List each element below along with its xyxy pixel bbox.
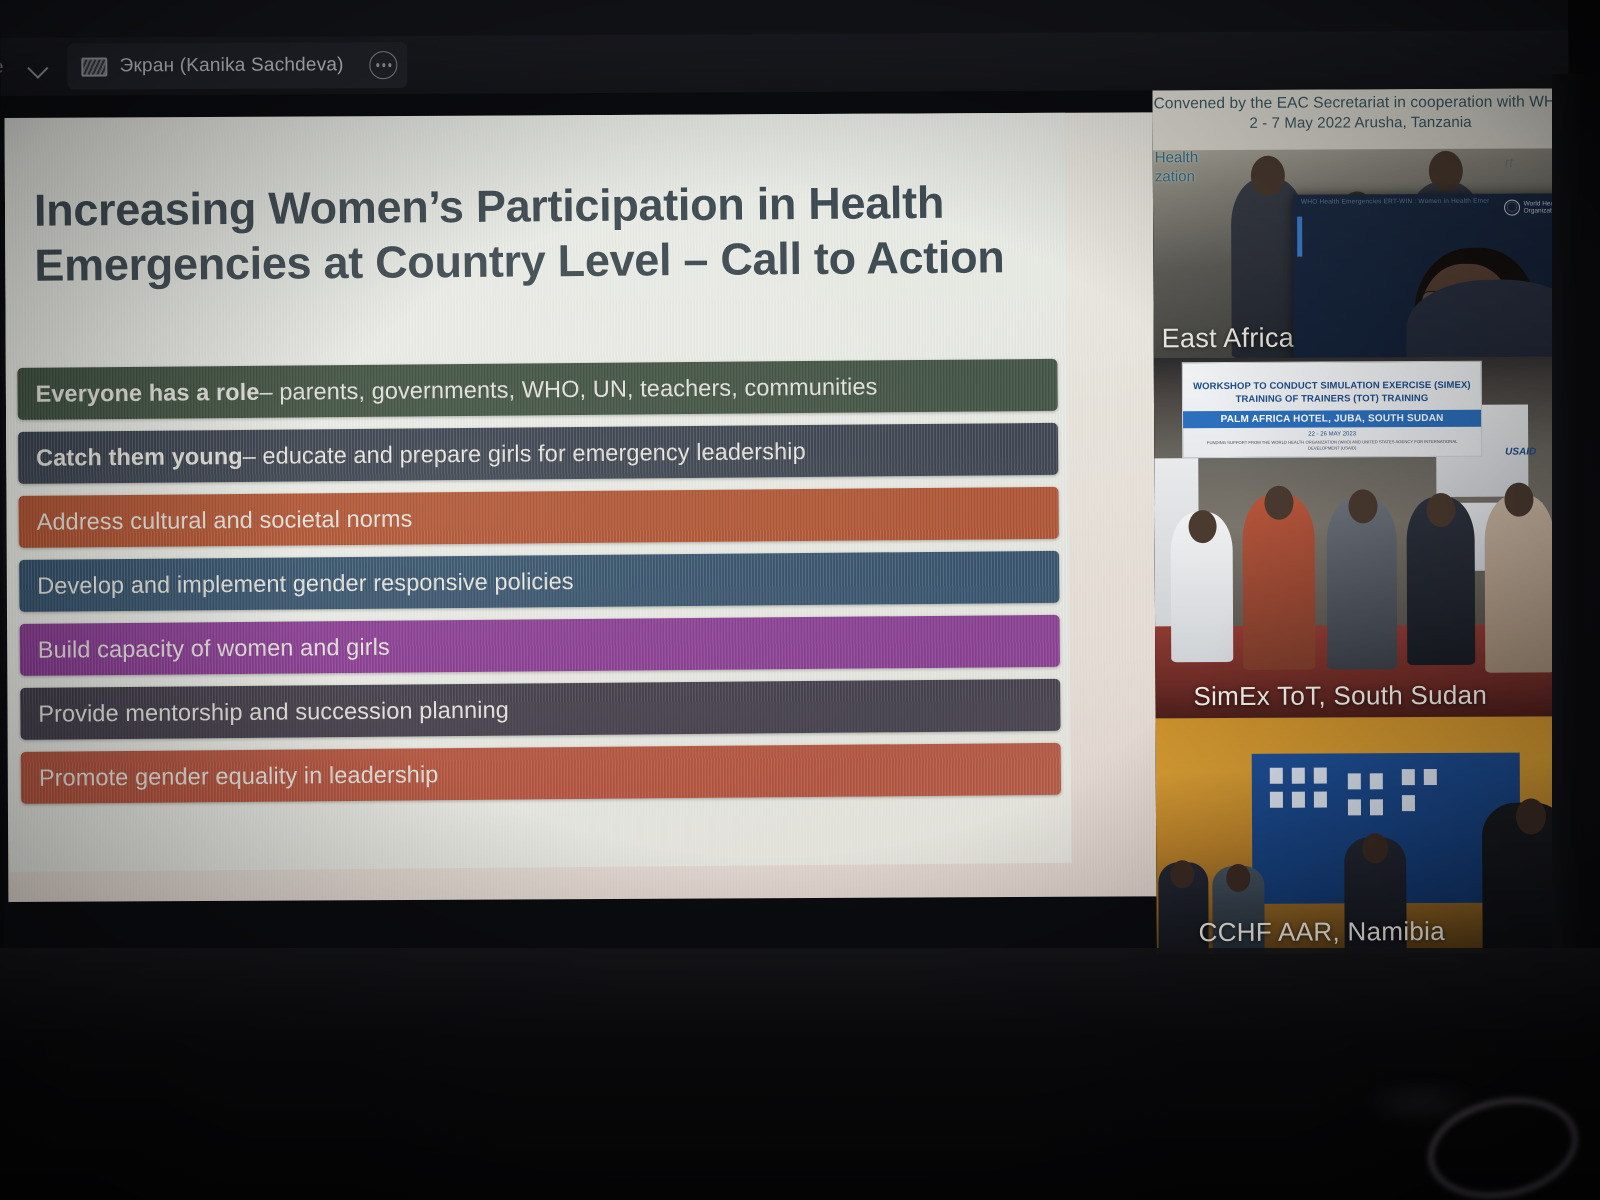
bar-lead-text: Catch them young xyxy=(36,442,243,471)
who-logo-icon: World Health Organization xyxy=(1504,199,1562,215)
conference-app-window: e Экран (Kanika Sachdeva) Increasing Wom… xyxy=(0,0,1573,960)
sticky-note xyxy=(1402,769,1415,785)
call-to-action-bar: Catch them young – educate and prepare g… xyxy=(18,423,1058,484)
sticky-note xyxy=(1370,799,1383,815)
bar-body-text: Provide mentorship and succession planni… xyxy=(38,696,509,727)
screen-share-icon xyxy=(82,57,108,76)
photo-figure-1-head xyxy=(1170,860,1194,888)
call-to-action-bar: Develop and implement gender responsive … xyxy=(19,551,1059,612)
sticky-note xyxy=(1370,773,1383,789)
call-to-action-bar: Provide mentorship and succession planni… xyxy=(20,679,1060,740)
simex-banner-line2: TRAINING OF TRAINERS (TOT) TRAINING xyxy=(1183,393,1481,407)
simex-workshop-banner: WORKSHOP TO CONDUCT SIMULATION EXERCISE … xyxy=(1182,361,1482,458)
call-to-action-bar: Promote gender equality in leadership xyxy=(21,743,1061,804)
photo-person-5-head xyxy=(1504,483,1533,517)
photo-person-left-head xyxy=(1251,156,1285,196)
stray-photo-text: rt xyxy=(1505,155,1513,170)
bar-body-text: Promote gender equality in leadership xyxy=(39,761,439,791)
usaid-logo: USAID xyxy=(1505,446,1536,457)
sticky-note xyxy=(1270,768,1283,784)
sticky-note xyxy=(1314,768,1327,784)
simex-banner-date: 22 - 26 MAY 2023 xyxy=(1183,430,1481,437)
who-logo-line1: Health xyxy=(1155,148,1198,167)
sticky-note xyxy=(1348,773,1361,789)
sticky-note xyxy=(1314,792,1327,808)
share-title-label: Экран (Kanika Sachdeva) xyxy=(120,54,344,77)
app-topbar: e Экран (Kanika Sachdeva) xyxy=(0,30,1568,96)
photo-person-1-head xyxy=(1189,510,1217,543)
chevron-down-icon[interactable] xyxy=(26,54,52,80)
photo-person-2 xyxy=(1242,494,1315,670)
bar-body-text: Address cultural and societal norms xyxy=(37,505,413,535)
sticky-note xyxy=(1292,768,1305,784)
who-mark-line2: Organization xyxy=(1524,207,1561,215)
sticky-note xyxy=(1292,792,1305,808)
sticky-note xyxy=(1402,795,1415,811)
photo-person-5 xyxy=(1484,494,1555,672)
eac-banner-line1: Convened by the EAC Secretariat in coope… xyxy=(1152,91,1568,114)
bar-lead-text: Everyone has a role xyxy=(35,378,259,407)
presentation-slide: Increasing Women’s Participation in Heal… xyxy=(5,112,1072,872)
call-to-action-bar: Build capacity of women and girls xyxy=(20,615,1060,676)
photo-person-4-head xyxy=(1426,493,1455,527)
photo-person-2-head xyxy=(1264,486,1293,520)
video-tile-simex-tot[interactable]: WORKSHOP TO CONDUCT SIMULATION EXERCISE … xyxy=(1154,356,1572,718)
call-to-action-list: Everyone has a role – parents, governmen… xyxy=(17,359,1061,816)
app-stage: Increasing Women’s Participation in Heal… xyxy=(0,88,1572,960)
simex-banner-funding-note: FUNDING SUPPORT FROM THE WORLD HEALTH OR… xyxy=(1183,438,1481,451)
who-logo-partial: Health zation xyxy=(1155,148,1199,187)
photo-figure-4-head xyxy=(1516,798,1546,834)
bar-body-text: – parents, governments, WHO, UN, teacher… xyxy=(259,373,877,405)
active-speaker-tile[interactable]: WHO Health Emergencies ERT-WIN : Women i… xyxy=(1293,193,1570,358)
bar-body-text: – educate and prepare girls for emergenc… xyxy=(243,438,806,470)
video-tile-cchf-aar[interactable]: CCHF AAR, Namibia xyxy=(1156,716,1573,954)
video-participant-column: Convened by the EAC Secretariat in coope… xyxy=(1152,88,1572,954)
photo-figure-3-head xyxy=(1362,833,1388,863)
tile-caption-cchf: CCHF AAR, Namibia xyxy=(1198,916,1445,948)
photo-figure-2-head xyxy=(1226,864,1250,892)
video-tile-east-africa[interactable]: Convened by the EAC Secretariat in coope… xyxy=(1152,88,1569,358)
page-title: Increasing Women’s Participation in Heal… xyxy=(34,175,1045,294)
sticky-note xyxy=(1348,799,1361,815)
topbar-truncated-label: e xyxy=(0,55,4,78)
sticky-note xyxy=(1424,769,1437,785)
shared-screen-area: Increasing Women’s Participation in Heal… xyxy=(5,112,1157,902)
who-logo-line2: zation xyxy=(1155,167,1198,186)
slide-accent-bar xyxy=(1297,217,1302,257)
more-options-icon[interactable] xyxy=(370,51,398,79)
eac-photo-banner: Convened by the EAC Secretariat in coope… xyxy=(1152,88,1568,150)
bar-body-text: Develop and implement gender responsive … xyxy=(37,568,574,600)
screen-share-indicator[interactable]: Экран (Kanika Sachdeva) xyxy=(68,42,408,90)
inset-slide-header: WHO Health Emergencies ERT-WIN : Women i… xyxy=(1301,198,1489,206)
photo-person-right-head xyxy=(1429,151,1463,191)
simex-banner-line1: WORKSHOP TO CONDUCT SIMULATION EXERCISE … xyxy=(1183,380,1481,394)
simex-banner-venue: PALM AFRICA HOTEL, JUBA, SOUTH SUDAN xyxy=(1183,409,1481,427)
sticky-note xyxy=(1270,792,1283,808)
call-to-action-bar: Everyone has a role – parents, governmen… xyxy=(17,359,1057,420)
who-globe-icon xyxy=(1504,200,1520,216)
photographed-screen: e Экран (Kanika Sachdeva) Increasing Wom… xyxy=(0,0,1600,1200)
call-to-action-bar: Address cultural and societal norms xyxy=(18,487,1058,548)
photo-person-3-head xyxy=(1348,489,1377,523)
tile-caption-simex: SimEx ToT, South Sudan xyxy=(1193,680,1487,712)
eac-banner-line2: 2 - 7 May 2022 Arusha, Tanzania xyxy=(1153,112,1569,134)
bar-body-text: Build capacity of women and girls xyxy=(38,633,390,663)
